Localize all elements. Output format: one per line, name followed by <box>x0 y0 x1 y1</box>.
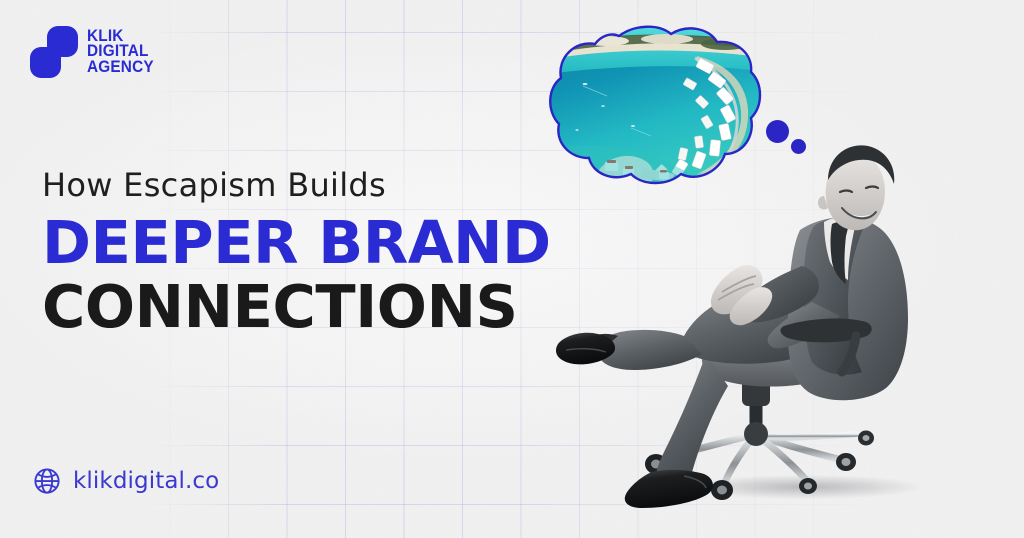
head <box>818 145 894 230</box>
banner-canvas: KLIK DIGITAL AGENCY How Escapism Builds … <box>0 0 1024 538</box>
brand-logo[interactable]: KLIK DIGITAL AGENCY <box>30 26 159 78</box>
globe-icon <box>32 466 62 496</box>
left-shoe <box>625 470 713 508</box>
businessman-in-office-chair <box>556 104 976 520</box>
headline-block: How Escapism Builds DEEPER BRAND CONNECT… <box>42 168 551 339</box>
brand-wordmark: KLIK DIGITAL AGENCY <box>87 29 159 75</box>
headline-highlight: DEEPER BRAND <box>42 211 551 275</box>
headline-dark: CONNECTIONS <box>42 275 551 339</box>
two-node-link-icon <box>30 26 78 78</box>
headline-eyebrow: How Escapism Builds <box>42 168 551 203</box>
website-footer[interactable]: klikdigital.co <box>32 466 219 496</box>
website-url: klikdigital.co <box>73 468 219 494</box>
brand-name-line-3: AGENCY <box>87 60 154 75</box>
left-leg <box>656 354 728 480</box>
